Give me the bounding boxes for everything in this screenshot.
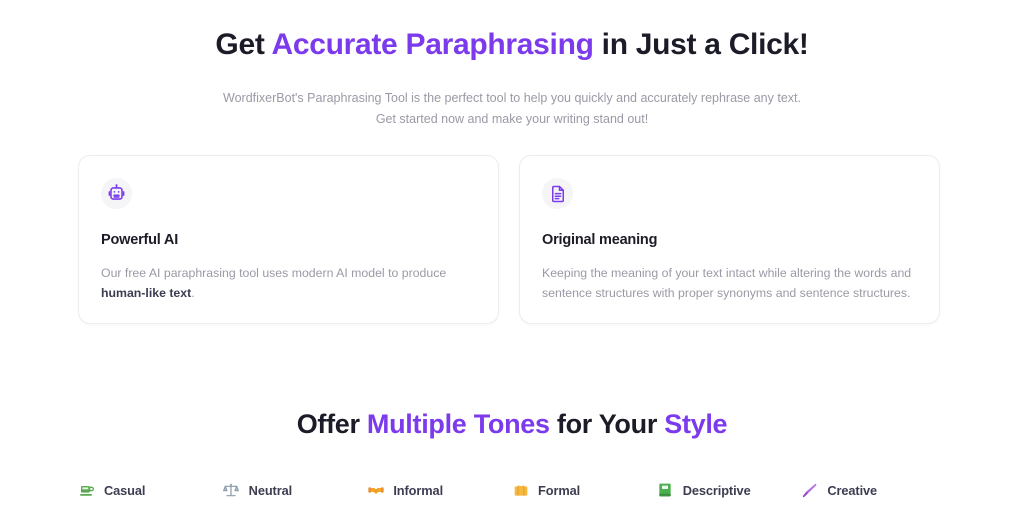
feature-card-body-text: Our free AI paraphrasing tool uses moder… (101, 266, 446, 280)
tone-label: Informal (393, 483, 443, 498)
coffee-mug-icon (78, 482, 95, 499)
feature-card-powerful-ai: Powerful AI Our free AI paraphrasing too… (78, 155, 499, 324)
tone-label: Descriptive (683, 483, 751, 498)
tone-label: Formal (538, 483, 580, 498)
tone-item-casual[interactable]: Casual (78, 479, 223, 501)
feature-card-original-meaning: Original meaning Keeping the meaning of … (519, 155, 940, 324)
tones-title-part2: for Your (550, 409, 665, 439)
paintbrush-icon (801, 482, 818, 499)
feature-card-body-tail: . (191, 286, 194, 300)
briefcase-icon (512, 482, 529, 499)
page-title-part1: Get (215, 28, 271, 61)
tone-list: Casual Neutral (78, 479, 946, 501)
feature-card-title: Original meaning (542, 232, 917, 248)
tones-title-accent1: Multiple Tones (367, 409, 550, 439)
tones-section-title: Offer Multiple Tones for Your Style (0, 409, 1024, 440)
tone-label: Neutral (249, 483, 292, 498)
page-title: Get Accurate Paraphrasing in Just a Clic… (0, 28, 1024, 62)
feature-card-list: Powerful AI Our free AI paraphrasing too… (78, 155, 940, 324)
tone-item-neutral[interactable]: Neutral (223, 479, 368, 501)
balance-scale-icon (223, 482, 240, 499)
page-subtitle-line2: Get started now and make your writing st… (0, 109, 1024, 130)
tones-title-accent2: Style (664, 409, 727, 439)
paraphrasing-landing-page: Get Accurate Paraphrasing in Just a Clic… (0, 0, 1024, 512)
page-subtitle: WordfixerBot's Paraphrasing Tool is the … (0, 88, 1024, 130)
tone-item-informal[interactable]: Informal (367, 479, 512, 501)
tone-item-creative[interactable]: Creative (801, 479, 946, 501)
book-icon (657, 482, 674, 499)
feature-card-body-emphasis: human-like text (101, 286, 191, 300)
feature-card-body: Our free AI paraphrasing tool uses moder… (101, 263, 476, 303)
document-icon (542, 178, 573, 209)
tone-label: Creative (827, 483, 877, 498)
tone-item-formal[interactable]: Formal (512, 479, 657, 501)
robot-icon (101, 178, 132, 209)
page-subtitle-line1: WordfixerBot's Paraphrasing Tool is the … (0, 88, 1024, 109)
tone-item-descriptive[interactable]: Descriptive (657, 479, 802, 501)
tones-title-part1: Offer (297, 409, 367, 439)
feature-card-body: Keeping the meaning of your text intact … (542, 263, 917, 303)
tone-label: Casual (104, 483, 145, 498)
page-title-accent: Accurate Paraphrasing (271, 28, 593, 61)
page-title-part2: in Just a Click! (594, 28, 809, 61)
feature-card-body-text: Keeping the meaning of your text intact … (542, 266, 911, 300)
handshake-icon (367, 482, 384, 499)
feature-card-title: Powerful AI (101, 232, 476, 248)
